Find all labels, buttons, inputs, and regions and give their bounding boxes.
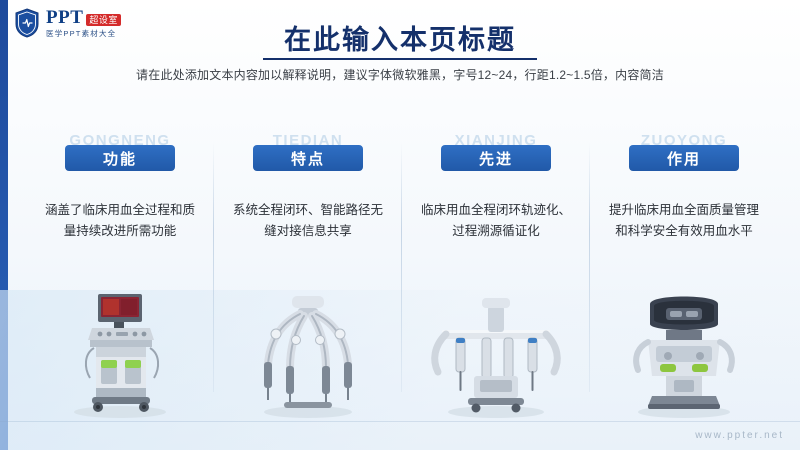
slide: PPT 超设室 医学PPT素材大全 在此输入本页标题 请在此处添加文本内容加以解…: [0, 0, 800, 450]
surgical-robot-arms-image: [228, 290, 388, 420]
site-watermark: www.ppter.net: [695, 430, 784, 441]
column-tedian: TIEDIAN 特点 系统全程闭环、智能路径无缝对接信息共享: [214, 132, 402, 422]
column-xianjin: XIANJING 先进 临床用血全程闭环轨迹化、过程溯源循证化: [402, 132, 590, 422]
column-gongneng: GONGNENG 功能 涵盖了临床用血全过程和质量持续改进所需功能: [26, 132, 214, 422]
ultrasound-machine-image: [40, 290, 200, 420]
column-pill-button[interactable]: 先进: [441, 145, 551, 171]
column-description: 提升临床用血全面质量管理和科学安全有效用血水平: [609, 200, 759, 241]
title-underline: [263, 58, 537, 60]
column-pill-button[interactable]: 特点: [253, 145, 363, 171]
surgeon-console-image: [604, 290, 764, 420]
column-description: 涵盖了临床用血全过程和质量持续改进所需功能: [45, 200, 195, 241]
column-pill-button[interactable]: 功能: [65, 145, 175, 171]
column-pill-button[interactable]: 作用: [629, 145, 739, 171]
content-columns: GONGNENG 功能 涵盖了临床用血全过程和质量持续改进所需功能: [26, 132, 778, 422]
column-zuoyong: ZUOYONG 作用 提升临床用血全面质量管理和科学安全有效用血水平: [590, 132, 778, 422]
column-description: 临床用血全程闭环轨迹化、过程溯源循证化: [421, 200, 571, 241]
column-description: 系统全程闭环、智能路径无缝对接信息共享: [233, 200, 383, 241]
page-subtitle: 请在此处添加文本内容加以解释说明，建议字体微软雅黑，字号12~24，行距1.2~…: [0, 66, 800, 83]
robotic-surgery-system-image: [416, 290, 576, 420]
page-title: 在此输入本页标题: [0, 18, 800, 57]
